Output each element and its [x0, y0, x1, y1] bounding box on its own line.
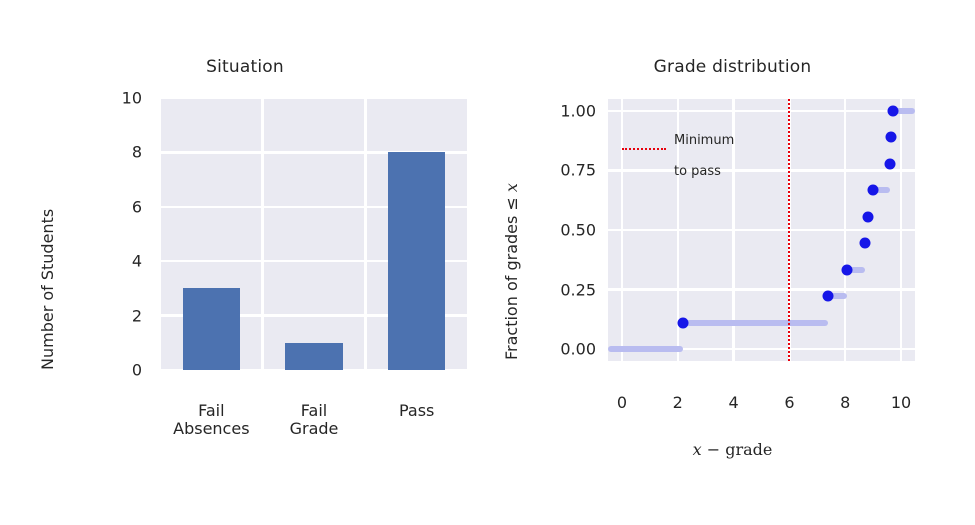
- x-tick-label: 8: [840, 393, 850, 412]
- x-tick-label: FailAbsences: [173, 402, 249, 438]
- y-tick-label: 0.25: [526, 280, 596, 299]
- gridline-vertical: [900, 99, 902, 361]
- gridline-horizontal: [608, 110, 915, 112]
- y-tick-label: 0.50: [526, 221, 596, 240]
- bar[interactable]: [388, 152, 445, 370]
- x-tick-label-line: Grade: [290, 420, 339, 438]
- legend-label-line2: to pass: [674, 164, 721, 179]
- x-tick-label-line: Pass: [399, 402, 434, 420]
- legend-label: Minimum to pass: [674, 118, 734, 179]
- bar[interactable]: [183, 288, 240, 370]
- plot-area-grade-distribution: Minimum to pass: [608, 99, 915, 361]
- x-axis-label-text: − grade: [702, 440, 773, 459]
- ecdf-data-point[interactable]: [862, 211, 873, 222]
- x-tick-label-line: Fail: [290, 402, 339, 420]
- y-tick-label: 4: [82, 252, 142, 271]
- ecdf-data-point[interactable]: [823, 291, 834, 302]
- ecdf-step-segment: [683, 320, 828, 326]
- x-tick-label: 4: [728, 393, 738, 412]
- gridline-vertical: [844, 99, 846, 361]
- x-tick-label-line: Absences: [173, 420, 249, 438]
- x-tick-label-line: Fail: [173, 402, 249, 420]
- chart-title-grade-distribution: Grade distribution: [490, 57, 975, 77]
- gridline-horizontal: [608, 288, 915, 290]
- y-tick-label: 8: [82, 143, 142, 162]
- gridline-vertical: [261, 98, 263, 370]
- ecdf-step-segment: [608, 346, 683, 352]
- y-axis-label-situation: Number of Students: [38, 209, 57, 370]
- gridline-vertical: [467, 98, 468, 370]
- gridline-horizontal: [608, 229, 915, 231]
- y-tick-label: 2: [82, 306, 142, 325]
- ecdf-data-point[interactable]: [678, 317, 689, 328]
- legend-minimum-to-pass: Minimum to pass: [622, 118, 734, 179]
- x-tick-label: 6: [784, 393, 794, 412]
- x-tick-label: FailGrade: [290, 402, 339, 438]
- ecdf-data-point[interactable]: [868, 185, 879, 196]
- gridline-vertical: [160, 98, 161, 370]
- ecdf-data-point[interactable]: [841, 264, 852, 275]
- legend-label-line1: Minimum: [674, 133, 734, 148]
- figure-canvas: Situation Number of Students 0246810 Fai…: [0, 0, 975, 525]
- x-axis-label-math-x: x: [693, 440, 702, 459]
- y-axis-label-math-x: x: [502, 183, 521, 192]
- y-tick-label: 0.75: [526, 161, 596, 180]
- x-tick-label: Pass: [399, 402, 434, 420]
- chart-title-situation: Situation: [0, 57, 490, 77]
- bar[interactable]: [285, 343, 342, 370]
- y-axis-label-text: Fraction of grades ≤: [502, 192, 521, 360]
- y-axis-label-grade-distribution: Fraction of grades ≤ x: [502, 183, 521, 360]
- ecdf-data-point[interactable]: [887, 105, 898, 116]
- gridline-vertical: [364, 98, 366, 370]
- panel-grade-distribution: Grade distribution Fraction of grades ≤ …: [490, 0, 975, 525]
- x-tick-label: 10: [891, 393, 911, 412]
- panel-situation: Situation Number of Students 0246810 Fai…: [0, 0, 490, 525]
- gridline-horizontal: [160, 98, 468, 99]
- y-tick-label: 0.00: [526, 340, 596, 359]
- ecdf-data-point[interactable]: [886, 132, 897, 143]
- plot-area-situation: [160, 98, 468, 370]
- x-axis-label-grade-distribution: x − grade: [490, 440, 975, 459]
- y-tick-label: 1.00: [526, 101, 596, 120]
- x-tick-label: 0: [617, 393, 627, 412]
- ecdf-data-point[interactable]: [859, 238, 870, 249]
- y-tick-label: 10: [82, 89, 142, 108]
- threshold-line-icon: [622, 148, 666, 150]
- y-tick-label: 0: [82, 361, 142, 380]
- ecdf-data-point[interactable]: [884, 158, 895, 169]
- minimum-to-pass-line: [788, 99, 790, 361]
- x-tick-label: 2: [673, 393, 683, 412]
- y-tick-label: 6: [82, 197, 142, 216]
